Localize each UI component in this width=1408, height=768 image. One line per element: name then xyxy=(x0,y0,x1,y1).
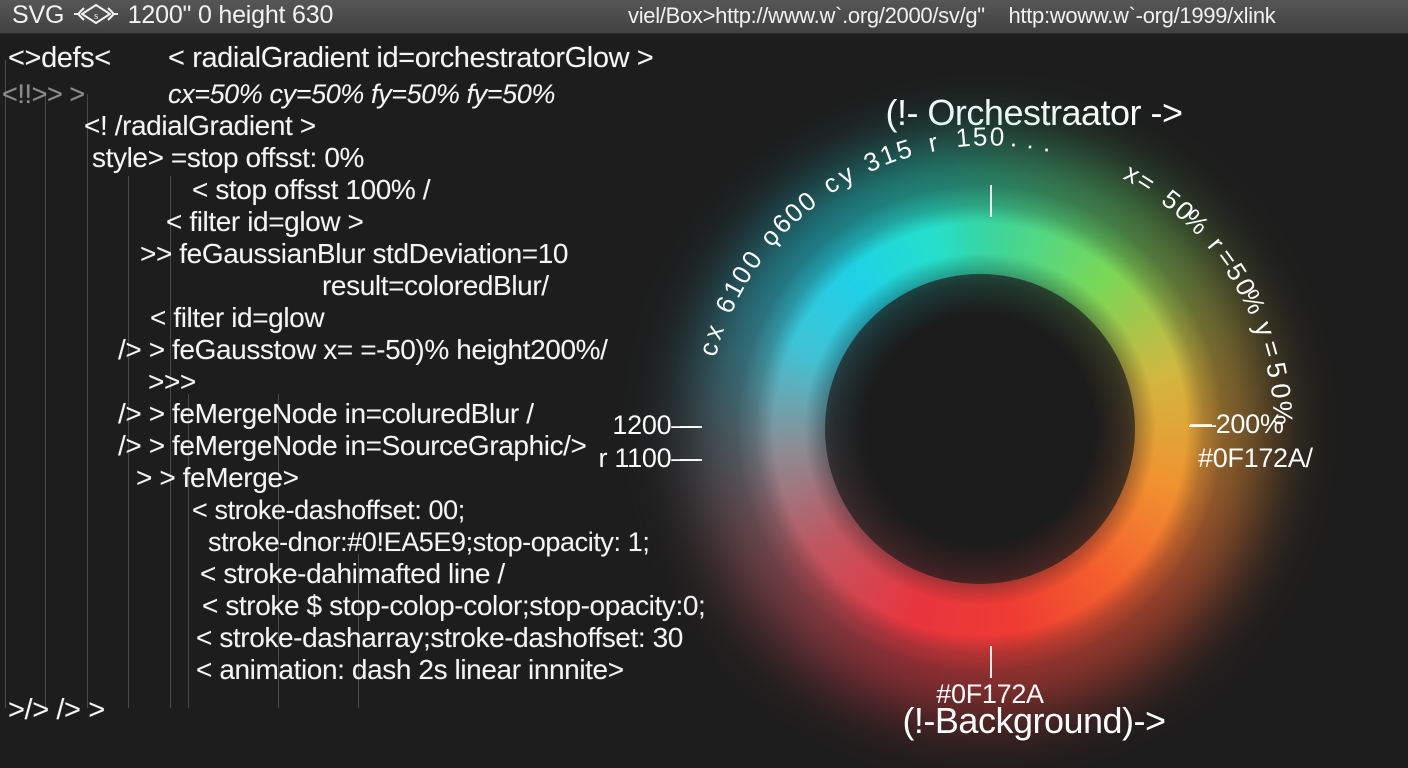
arc-label-far-right: % xyxy=(1265,400,1297,426)
screenshot-root: SVG s 1200" 0 height 630 viel/Box>http:/… xyxy=(0,0,1408,768)
svg-text:s: s xyxy=(94,10,98,22)
code-line: stroke-dnor:#0!EA5E9;stop-opacity: 1; xyxy=(208,526,649,558)
ring-inner-core xyxy=(825,274,1135,584)
header-bar: SVG s 1200" 0 height 630 viel/Box>http:/… xyxy=(0,0,1408,34)
code-line: <! /radialGradient > xyxy=(84,110,316,142)
arc-label-far-right: y xyxy=(1248,317,1282,340)
label-left-bottom: r 1100— xyxy=(599,443,698,474)
code-line: /> > feMergeNode in=coluredBlur / xyxy=(118,398,534,430)
code-panel[interactable]: <>defs<< radialGradient id=orchestratorG… xyxy=(0,34,760,768)
code-line: >/> /> > xyxy=(8,694,105,726)
code-line: < radialGradient id=orchestratorGlow > xyxy=(168,42,653,74)
code-line: < stroke-dahimafted line / xyxy=(200,558,505,590)
arc-label-left: 0 xyxy=(989,121,1004,152)
arc-label-far-right: = xyxy=(1254,338,1288,362)
code-line: /> > feMergeNode in=SourceGraphic/> xyxy=(118,430,587,462)
header-namespace-svg: viel/Box>http://www.w`.org/2000/sv/g" xyxy=(628,3,985,28)
code-line: result=coloredBlur/ xyxy=(322,270,549,302)
code-line: cx=50% cy=50% fy=50% fy=50% xyxy=(168,78,555,110)
indent-guide-1 xyxy=(45,94,46,708)
ring-panel: (!- Orchestraator -> 1200— r 1100— —200%… xyxy=(660,34,1408,768)
code-line: > > feMerge> xyxy=(136,462,299,494)
header-namespace-xlink: http:woww.w`-org/1999/xlink xyxy=(1008,3,1275,28)
indent-guide-0 xyxy=(5,60,6,708)
code-line: >>> xyxy=(148,366,196,398)
code-line: < animation: dash 2s linear innnite> xyxy=(196,654,624,686)
header-left-text: SVG s 1200" 0 height 630 xyxy=(12,1,333,32)
code-line: < stroke-dashoffset: 00; xyxy=(192,494,465,526)
code-line: < stroke $ stop-colop-color;stop-opacity… xyxy=(202,590,705,622)
indent-guide-2 xyxy=(87,94,88,708)
arc-label-left: 5 xyxy=(972,121,988,152)
code-line: < stroke-dasharray;stroke-dashoffset: 30 xyxy=(196,622,683,654)
code-line: <>defs< xyxy=(8,42,111,74)
header-svg-label: SVG xyxy=(12,1,64,29)
code-line: < filter id=glow > xyxy=(166,206,363,238)
arc-label-far-right: 0 xyxy=(1263,382,1296,401)
code-line: /> > feGausstow x= =-50)% height200%/ xyxy=(118,334,608,366)
code-line: <!!>> > xyxy=(2,78,85,110)
tick-top xyxy=(990,185,992,217)
code-line: < filter id=glow xyxy=(150,302,324,334)
svg-diamond-icon: s xyxy=(72,3,120,32)
label-left-top: 1200— xyxy=(612,410,698,441)
tick-bottom xyxy=(990,646,992,678)
label-right-bottom: #0F172A/ xyxy=(1198,443,1313,474)
code-line: >> feGaussianBlur stdDeviation=10 xyxy=(140,238,568,270)
arc-label-left: 1 xyxy=(954,122,971,154)
code-line: style> =stop offsst: 0% xyxy=(92,142,364,174)
header-dims-label: 1200" 0 height 630 xyxy=(128,1,333,29)
orchestrator-ring xyxy=(730,179,1230,679)
arc-label-far-right: 5 xyxy=(1259,360,1292,381)
ring-footer-label: (!-Background)-> xyxy=(660,700,1408,742)
header-right-text: viel/Box>http://www.w`.org/2000/sv/g" ht… xyxy=(628,3,1275,29)
code-line: < stop offsst 100% / xyxy=(192,174,430,206)
